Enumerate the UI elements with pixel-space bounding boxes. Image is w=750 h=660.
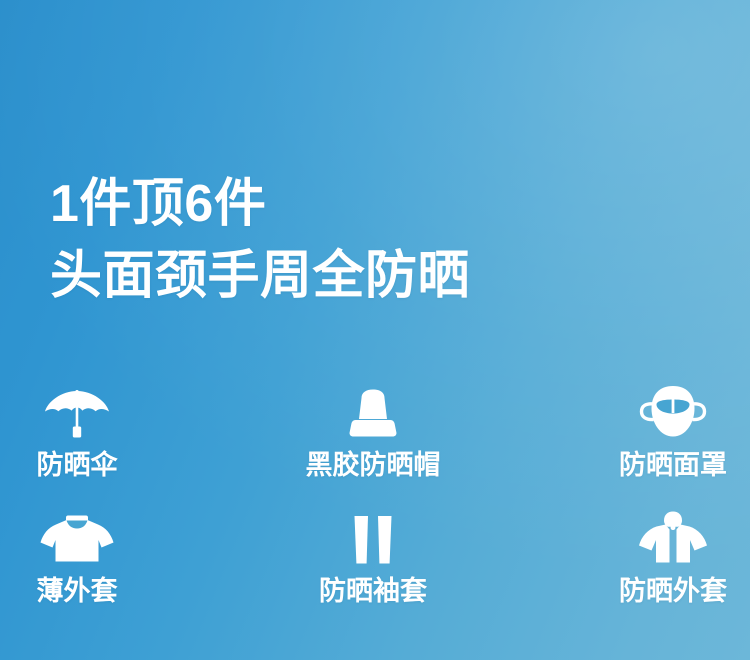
feature-item-bucket-hat: 黑胶防晒帽	[248, 378, 498, 508]
feature-label: 防晒伞	[37, 449, 118, 481]
bucket-hat-icon	[340, 378, 406, 440]
umbrella-icon	[41, 378, 113, 440]
feature-label: 薄外套	[37, 575, 118, 607]
feature-item-arm-sleeves: 防晒袖套	[248, 508, 498, 638]
headline-line-2: 头面颈手周全防晒	[50, 240, 470, 312]
feature-label: 黑胶防晒帽	[306, 449, 441, 481]
feature-label: 防晒外套	[619, 575, 727, 607]
feature-item-umbrella: 防晒伞	[0, 378, 202, 508]
feature-item-sweater: 薄外套	[0, 508, 202, 638]
hooded-jacket-icon	[636, 508, 710, 566]
promo-banner: 1件顶6件 头面颈手周全防晒 防晒伞	[0, 0, 750, 660]
headline: 1件顶6件 头面颈手周全防晒	[50, 168, 470, 312]
feature-label: 防晒袖套	[319, 575, 427, 607]
feature-item-face-mask: 防晒面罩	[548, 378, 750, 508]
sweater-icon	[38, 508, 116, 566]
arm-sleeves-icon	[348, 508, 398, 566]
feature-item-hooded-jacket: 防晒外套	[548, 508, 750, 638]
feature-grid: 防晒伞 黑胶防晒帽	[0, 378, 750, 638]
feature-label: 防晒面罩	[619, 449, 727, 481]
headline-line-1: 1件顶6件	[50, 168, 470, 240]
face-mask-icon	[633, 378, 713, 440]
